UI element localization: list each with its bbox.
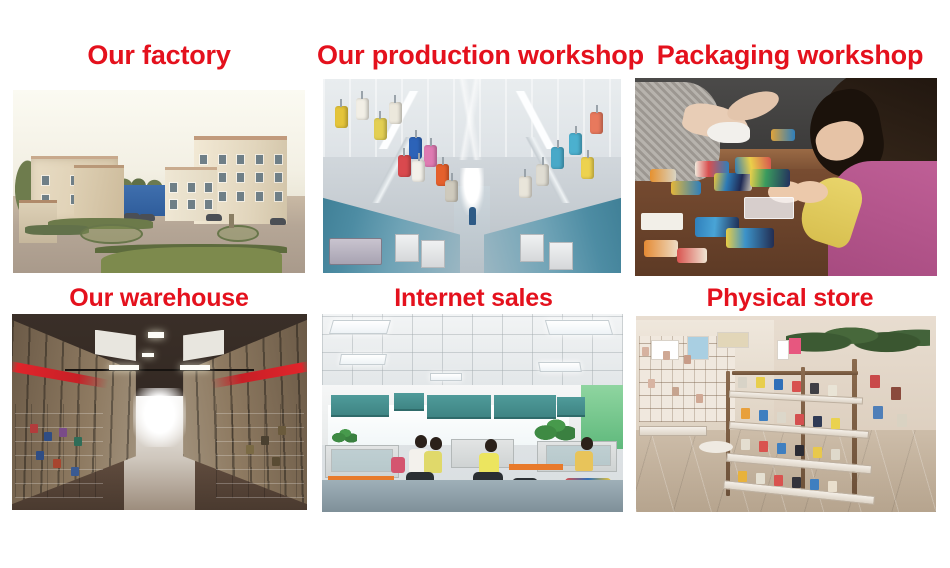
caption-our-warehouse: Our warehouse bbox=[0, 286, 318, 311]
sock-display-item bbox=[810, 383, 819, 394]
collection-bin bbox=[549, 242, 573, 270]
stock-shelving-right bbox=[216, 404, 305, 498]
window bbox=[188, 183, 195, 192]
window bbox=[170, 183, 177, 192]
yarn-spool bbox=[389, 102, 402, 124]
wall-poster bbox=[717, 332, 749, 348]
ceiling-light bbox=[329, 320, 391, 334]
sock-item bbox=[726, 228, 774, 248]
window bbox=[237, 155, 244, 164]
employee-torso bbox=[424, 451, 442, 473]
window bbox=[170, 200, 177, 209]
stock-box bbox=[59, 428, 67, 437]
sock-display-item bbox=[828, 481, 837, 492]
wall-peg-item bbox=[684, 355, 691, 364]
overhead-rail-right bbox=[478, 137, 621, 203]
building-center bbox=[165, 167, 218, 221]
yarn-spool bbox=[412, 160, 425, 182]
collection-bin bbox=[520, 234, 544, 262]
sock-display-item bbox=[831, 418, 840, 429]
window bbox=[275, 155, 282, 164]
window-blind bbox=[394, 393, 424, 411]
sock-display-item bbox=[738, 471, 747, 482]
scene-knitting-hall bbox=[323, 79, 621, 273]
sock-display-item bbox=[759, 441, 768, 452]
window bbox=[256, 173, 263, 182]
potted-plant bbox=[533, 413, 575, 441]
stock-box bbox=[44, 432, 52, 441]
courtyard-statue bbox=[229, 214, 234, 228]
photo-packaging-workshop bbox=[635, 78, 937, 276]
photo-our-production-workshop bbox=[323, 79, 621, 273]
window-row bbox=[194, 155, 287, 164]
ceiling-light bbox=[538, 362, 582, 372]
sock-display-item bbox=[756, 377, 765, 388]
yarn-spool bbox=[569, 133, 582, 155]
window bbox=[219, 173, 226, 182]
yarn-spool bbox=[409, 137, 422, 159]
photo-our-warehouse bbox=[12, 314, 307, 510]
employee-head bbox=[415, 435, 427, 448]
window bbox=[275, 173, 282, 182]
scene-office bbox=[322, 314, 623, 512]
panel-our-production-workshop: Our production workshop bbox=[317, 28, 630, 280]
company-capability-collage: Our factory bbox=[0, 0, 950, 568]
sock-display-item bbox=[774, 475, 783, 486]
stock-box bbox=[278, 426, 286, 435]
sock-display-item bbox=[777, 443, 786, 454]
wall-peg-item bbox=[663, 351, 670, 360]
sock-item bbox=[677, 248, 707, 263]
scene-warehouse-aisle bbox=[12, 314, 307, 510]
window bbox=[256, 192, 263, 201]
panel-packaging-workshop: Packaging workshop bbox=[630, 28, 950, 280]
sock-display-item bbox=[741, 408, 750, 419]
yarn-spool bbox=[398, 155, 411, 177]
employee-head bbox=[430, 437, 442, 450]
window bbox=[275, 192, 282, 201]
promo-sign bbox=[789, 338, 801, 354]
photo-internet-sales bbox=[322, 314, 623, 512]
ceiling-light bbox=[339, 354, 387, 365]
panel-internet-sales: Internet sales bbox=[317, 278, 630, 518]
office-floor bbox=[322, 480, 623, 512]
window bbox=[256, 155, 263, 164]
sock-display-item bbox=[897, 414, 907, 427]
sock-display-item bbox=[741, 439, 750, 450]
sock-display-item bbox=[774, 379, 783, 390]
potted-plant bbox=[331, 425, 357, 443]
collection-bin bbox=[395, 234, 419, 262]
window-blind bbox=[427, 395, 491, 419]
blue-warehouse-door bbox=[124, 185, 165, 216]
sock-display-item bbox=[813, 416, 822, 427]
sock-display-item bbox=[795, 445, 804, 456]
sock-display-item bbox=[831, 449, 840, 460]
window bbox=[42, 176, 49, 185]
panel-grid: Our factory bbox=[0, 0, 950, 568]
parked-car bbox=[206, 214, 222, 221]
stock-box bbox=[30, 424, 38, 433]
photo-our-factory bbox=[13, 90, 305, 273]
desk-accent-strip bbox=[509, 464, 563, 470]
ceiling-light bbox=[545, 320, 613, 335]
scene-packing-table bbox=[635, 78, 937, 276]
poly-bag bbox=[744, 197, 794, 219]
caption-our-production-workshop: Our production workshop bbox=[317, 42, 630, 69]
scene-factory bbox=[13, 90, 305, 273]
overhead-beam bbox=[65, 369, 254, 371]
sock-display-item bbox=[813, 447, 822, 458]
employee-head bbox=[581, 437, 593, 450]
cubicle-glass bbox=[331, 449, 393, 473]
wall-peg-item bbox=[696, 394, 703, 403]
sock-item bbox=[671, 181, 701, 195]
yarn-spool bbox=[424, 145, 437, 167]
collection-bin bbox=[421, 240, 445, 268]
window bbox=[205, 200, 212, 209]
stock-box bbox=[53, 459, 61, 468]
yarn-spool bbox=[536, 164, 549, 186]
window-row bbox=[165, 183, 218, 192]
window bbox=[219, 155, 226, 164]
yarn-spool bbox=[374, 118, 387, 140]
scene-retail-store bbox=[636, 316, 936, 512]
panel-our-warehouse: Our warehouse bbox=[0, 278, 318, 518]
greenery-garland bbox=[786, 316, 930, 355]
sock-item bbox=[714, 173, 752, 191]
building-left-wing bbox=[74, 165, 124, 221]
stock-box bbox=[261, 436, 269, 445]
sock-item bbox=[750, 169, 790, 187]
window bbox=[188, 200, 195, 209]
window bbox=[237, 192, 244, 201]
caption-physical-store: Physical store bbox=[630, 286, 950, 311]
sock-display-item bbox=[873, 406, 883, 419]
ceiling-lamp bbox=[148, 332, 164, 338]
floor-tile-lines bbox=[636, 430, 936, 512]
wall-peg-item bbox=[648, 379, 655, 388]
handbag bbox=[391, 457, 405, 473]
rack-top-rail bbox=[732, 371, 858, 375]
sock-display-item bbox=[792, 381, 801, 392]
stock-shelving-left bbox=[15, 404, 104, 498]
ceiling-light bbox=[430, 373, 462, 381]
ceiling-lamp bbox=[109, 365, 139, 370]
sock-display-item bbox=[810, 479, 819, 490]
wall-peg-item bbox=[672, 387, 679, 396]
sock-item bbox=[771, 129, 795, 141]
sock-display-item bbox=[792, 477, 801, 488]
sock-display-item bbox=[738, 377, 747, 388]
yarn-spool bbox=[551, 147, 564, 169]
panel-physical-store: Physical store bbox=[630, 278, 950, 518]
window bbox=[205, 183, 212, 192]
employee-torso bbox=[575, 451, 593, 471]
sock-display-item bbox=[828, 385, 837, 396]
window bbox=[200, 155, 207, 164]
caption-internet-sales: Internet sales bbox=[317, 286, 630, 311]
caption-packaging-workshop: Packaging workshop bbox=[630, 42, 950, 69]
worker bbox=[469, 207, 476, 225]
sock-display-item bbox=[756, 473, 765, 484]
parked-car bbox=[270, 218, 286, 225]
machine-control-panel bbox=[329, 238, 382, 265]
sock-display-item bbox=[891, 387, 901, 400]
lawn bbox=[101, 247, 282, 273]
paper-sheet bbox=[641, 213, 683, 231]
sock-display-item bbox=[759, 410, 768, 421]
stock-box bbox=[74, 437, 82, 446]
window bbox=[237, 173, 244, 182]
sock-item bbox=[644, 240, 678, 257]
caption-our-factory: Our factory bbox=[0, 42, 318, 69]
low-cabinet bbox=[639, 426, 707, 436]
stock-box bbox=[272, 457, 280, 466]
yarn-spool bbox=[519, 176, 532, 198]
employee-head bbox=[485, 439, 497, 452]
sock-display-item bbox=[795, 414, 804, 425]
rack-post bbox=[852, 359, 857, 496]
aisle-end-glow bbox=[133, 388, 186, 447]
sock-display-item bbox=[777, 412, 786, 423]
yarn-spool bbox=[356, 98, 369, 120]
yarn-spool bbox=[581, 157, 594, 179]
stock-box bbox=[246, 445, 254, 454]
ceiling-lamp bbox=[180, 365, 210, 370]
wall-peg-item bbox=[642, 347, 649, 356]
stock-box bbox=[36, 451, 44, 460]
roundabout-planter bbox=[80, 224, 142, 244]
worker-left-hand bbox=[707, 122, 749, 144]
panel-our-factory: Our factory bbox=[0, 28, 318, 280]
yarn-spool bbox=[590, 112, 603, 134]
window-blind bbox=[331, 395, 389, 417]
promo-sign bbox=[777, 340, 789, 360]
yarn-spool bbox=[445, 180, 458, 202]
photo-physical-store bbox=[636, 316, 936, 512]
window-row bbox=[165, 200, 218, 209]
stock-box bbox=[71, 467, 79, 476]
sock-display-item bbox=[870, 375, 880, 388]
yarn-spool bbox=[335, 106, 348, 128]
ceiling-lamp bbox=[142, 353, 154, 357]
window bbox=[219, 192, 226, 201]
